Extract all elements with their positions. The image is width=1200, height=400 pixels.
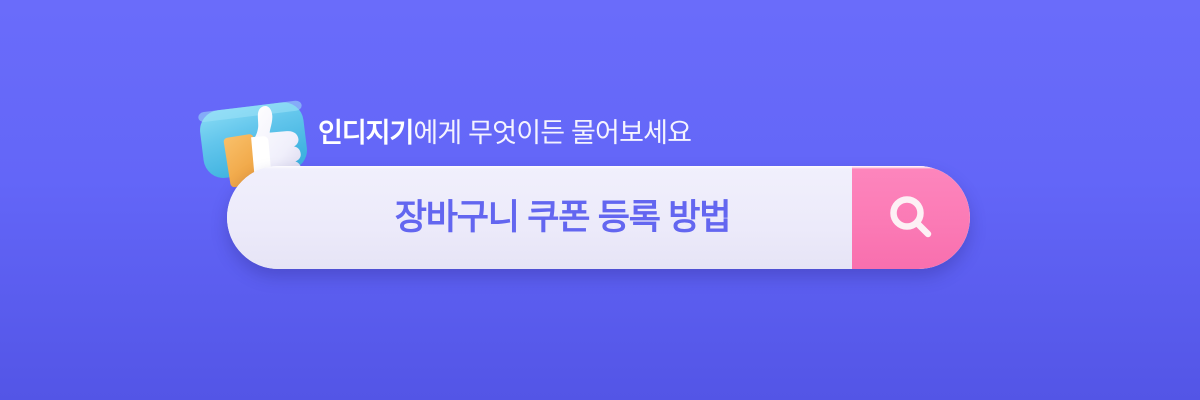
brand-name: 인디지기 <box>318 120 413 147</box>
search-input[interactable]: 장바구니 쿠폰 등록 방법 <box>227 166 852 269</box>
search-query-text: 장바구니 쿠폰 등록 방법 <box>395 200 731 235</box>
search-button[interactable] <box>852 166 970 269</box>
search-icon <box>883 190 939 246</box>
search-bar[interactable]: 장바구니 쿠폰 등록 방법 <box>227 166 970 269</box>
tagline: 인디지기에게 무엇이든 물어보세요 <box>318 113 691 153</box>
tagline-text: 에게 무엇이든 물어보세요 <box>413 120 691 147</box>
search-banner: 인디지기에게 무엇이든 물어보세요 장바구니 쿠폰 등록 방법 <box>0 0 1200 400</box>
